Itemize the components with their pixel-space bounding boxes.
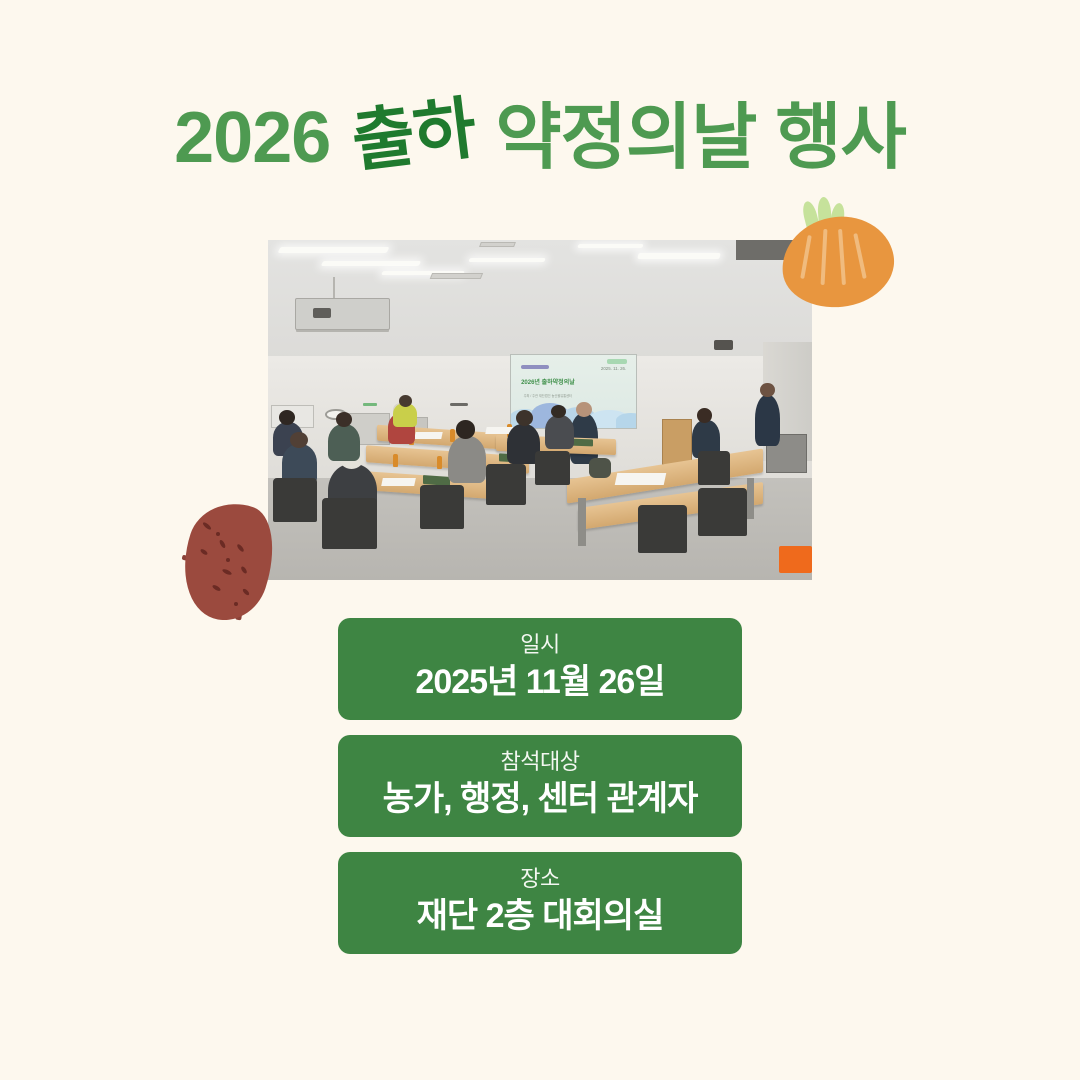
ceiling-light <box>637 253 720 259</box>
title-main-text: 약정의날 행사 <box>495 102 905 174</box>
chair <box>698 488 747 536</box>
potato-speck <box>226 558 230 562</box>
table-leg <box>578 498 586 546</box>
info-value-attendees: 농가, 행정, 센터 관계자 <box>356 779 724 820</box>
documents <box>381 478 415 486</box>
event-poster: 2026 출하 약정의날 행사 <box>0 0 1080 1080</box>
event-photo: 2026년 출하약정의날 주최 / 주관 재단법인 농산물유통센터 2025. … <box>268 240 812 580</box>
ceiling-projector <box>295 298 389 331</box>
chair <box>535 451 570 485</box>
wall-speaker <box>714 340 732 350</box>
beverage-bottle <box>393 454 398 467</box>
slide-accent-bar <box>521 365 549 369</box>
attendee <box>448 436 486 484</box>
info-box-attendees: 참석대상 농가, 행정, 센터 관계자 <box>338 735 742 837</box>
slide-title: 2026년 출하약정의날 <box>521 377 575 386</box>
orange-box <box>779 546 812 573</box>
ceiling-vent <box>479 242 515 247</box>
beverage-bottle <box>437 456 442 469</box>
info-box-date: 일시 2025년 11월 26일 <box>338 618 742 720</box>
info-box-venue: 장소 재단 2층 대회의실 <box>338 852 742 954</box>
potato-speck <box>216 532 220 536</box>
potato-speck <box>234 602 238 606</box>
slide-logo <box>607 359 627 364</box>
ceiling-vent <box>430 273 483 279</box>
photo-scene: 2026년 출하약정의날 주최 / 주관 재단법인 농산물유통센터 2025. … <box>268 240 812 580</box>
chair <box>322 498 376 549</box>
chair <box>698 451 731 485</box>
podium <box>662 419 691 465</box>
event-details: 일시 2025년 11월 26일 참석대상 농가, 행정, 센터 관계자 장소 … <box>0 618 1080 969</box>
onion-icon <box>782 199 894 307</box>
onion-body <box>778 211 899 312</box>
chair <box>638 505 687 553</box>
slide-graphic <box>616 413 637 428</box>
ceiling-light <box>277 247 389 253</box>
title-accent-word: 출하 <box>349 92 499 177</box>
ceiling-light <box>321 261 421 266</box>
staff-head <box>760 383 775 397</box>
info-value-date: 2025년 11월 26일 <box>356 662 724 703</box>
attendee-head <box>336 412 352 427</box>
exit-sign <box>363 403 377 406</box>
attendee-head <box>279 410 295 425</box>
attendee-head <box>697 408 712 423</box>
attendee-head <box>399 395 413 407</box>
table-leg <box>747 478 755 519</box>
chair <box>420 485 464 529</box>
documents <box>414 432 443 439</box>
poster-title: 2026 출하 약정의날 행사 <box>0 93 1080 183</box>
bag <box>589 458 611 478</box>
attendee-head <box>516 410 533 426</box>
info-label-venue: 장소 <box>356 866 724 891</box>
info-label-date: 일시 <box>356 632 724 657</box>
chair <box>486 464 527 505</box>
documents <box>615 473 666 485</box>
attendee <box>328 424 361 461</box>
sweet-potato-icon <box>178 498 282 624</box>
staff-member <box>755 395 780 446</box>
info-value-venue: 재단 2층 대회의실 <box>356 896 724 937</box>
attendee-head <box>456 420 476 438</box>
attendee <box>545 415 573 449</box>
slide-date: 2025. 11. 26. <box>601 366 626 371</box>
wall-speaker <box>450 403 467 407</box>
ceiling-light <box>577 244 643 248</box>
info-label-attendees: 참석대상 <box>356 749 724 774</box>
slide-subtitle: 주최 / 주관 재단법인 농산물유통센터 <box>524 393 572 398</box>
title-year: 2026 <box>174 102 352 174</box>
attendee-head <box>290 432 308 448</box>
ceiling-light <box>468 258 546 262</box>
